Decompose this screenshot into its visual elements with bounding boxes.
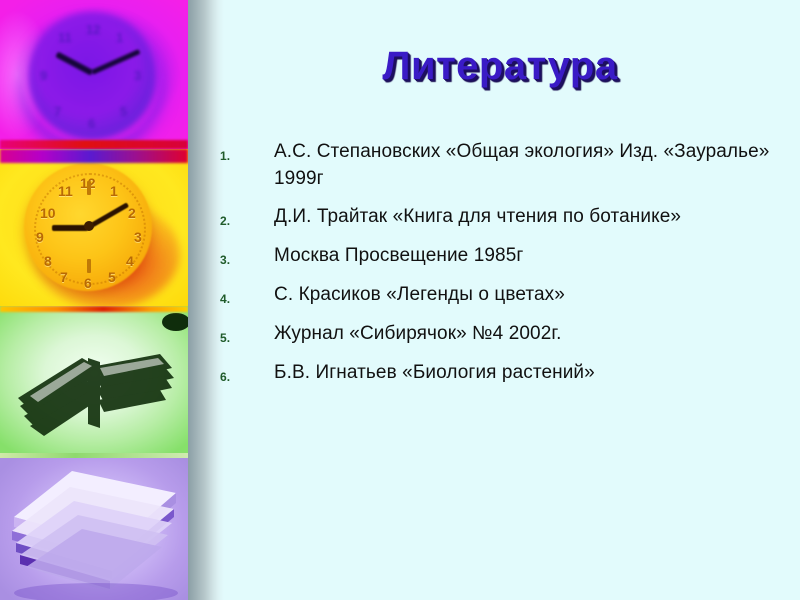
clock-center-cap [84, 221, 94, 231]
clock-numeral: 7 [54, 104, 61, 119]
clock-numeral: 6 [84, 275, 92, 291]
list-item-text: Журнал «Сибирячок» №4 2002г. [274, 320, 776, 347]
clock-numeral: 9 [36, 229, 44, 245]
panel-edge-band [0, 149, 188, 163]
clock-tick [87, 259, 91, 273]
photo-panel-clock-magenta: 12 3 6 9 1 11 5 7 [0, 0, 188, 149]
clock-numeral: 11 [58, 183, 73, 199]
list-item-number: 3. [220, 247, 244, 274]
clock-numeral: 2 [128, 205, 136, 221]
list-item-number: 4. [220, 286, 244, 313]
panel-edge-band [0, 306, 188, 312]
clock-numeral: 1 [116, 30, 123, 45]
photo-panel-clock-yellow: 12 1 2 3 4 5 6 7 8 9 10 11 [0, 149, 188, 306]
clock-hour-hand [52, 225, 88, 231]
clock-numeral: 8 [44, 253, 52, 269]
clock-numeral: 5 [120, 104, 127, 119]
list-item: 1. А.С. Степановских «Общая экология» Из… [216, 138, 776, 192]
list-item: 2. Д.И. Трайтак «Книга для чтения по бот… [216, 203, 776, 230]
list-item-number: 2. [220, 208, 244, 235]
slide-title: Литература [224, 44, 776, 89]
clock-numeral: 3 [134, 68, 141, 83]
list-item-text: С. Красиков «Легенды о цветах» [274, 281, 776, 308]
list-item: 6. Б.В. Игнатьев «Биология растений» [216, 359, 776, 386]
clock-numeral: 9 [40, 68, 47, 83]
bibliography-list: 1. А.С. Степановских «Общая экология» Из… [216, 138, 776, 398]
clock-numeral: 11 [58, 30, 72, 45]
clock-numeral: 7 [60, 269, 68, 285]
photo-panel-book-green [0, 306, 188, 453]
clock-numeral: 3 [134, 229, 142, 245]
list-item: 5. Журнал «Сибирячок» №4 2002г. [216, 320, 776, 347]
open-book-illustration [0, 306, 188, 453]
panel-edge-band [0, 140, 188, 149]
panel-edge-band [0, 453, 188, 458]
paper-stack-illustration [0, 453, 188, 600]
list-item: 4. С. Красиков «Легенды о цветах» [216, 281, 776, 308]
slide-canvas: 12 3 6 9 1 11 5 7 12 1 2 3 4 5 6 7 8 [0, 0, 800, 600]
list-item-text: Д.И. Трайтак «Книга для чтения по ботани… [274, 203, 776, 230]
list-item-number: 6. [220, 364, 244, 391]
clock-tick [87, 181, 91, 195]
clock-numeral: 5 [108, 269, 116, 285]
list-item-text: Б.В. Игнатьев «Биология растений» [274, 359, 776, 386]
list-item: 3. Москва Просвещение 1985г [216, 242, 776, 269]
clock-numeral: 6 [88, 116, 95, 131]
list-item-number: 5. [220, 325, 244, 352]
clock-numeral: 4 [126, 253, 134, 269]
list-item-text: А.С. Степановских «Общая экология» Изд. … [274, 138, 776, 192]
clock-numeral: 10 [40, 205, 56, 221]
list-item-text: Москва Просвещение 1985г [274, 242, 776, 269]
photo-panel-papers-violet [0, 453, 188, 600]
clock-numeral: 1 [110, 183, 118, 199]
clock-numeral: 12 [86, 22, 100, 37]
decorative-photo-strip: 12 3 6 9 1 11 5 7 12 1 2 3 4 5 6 7 8 [0, 0, 188, 600]
list-item-number: 1. [220, 143, 244, 170]
